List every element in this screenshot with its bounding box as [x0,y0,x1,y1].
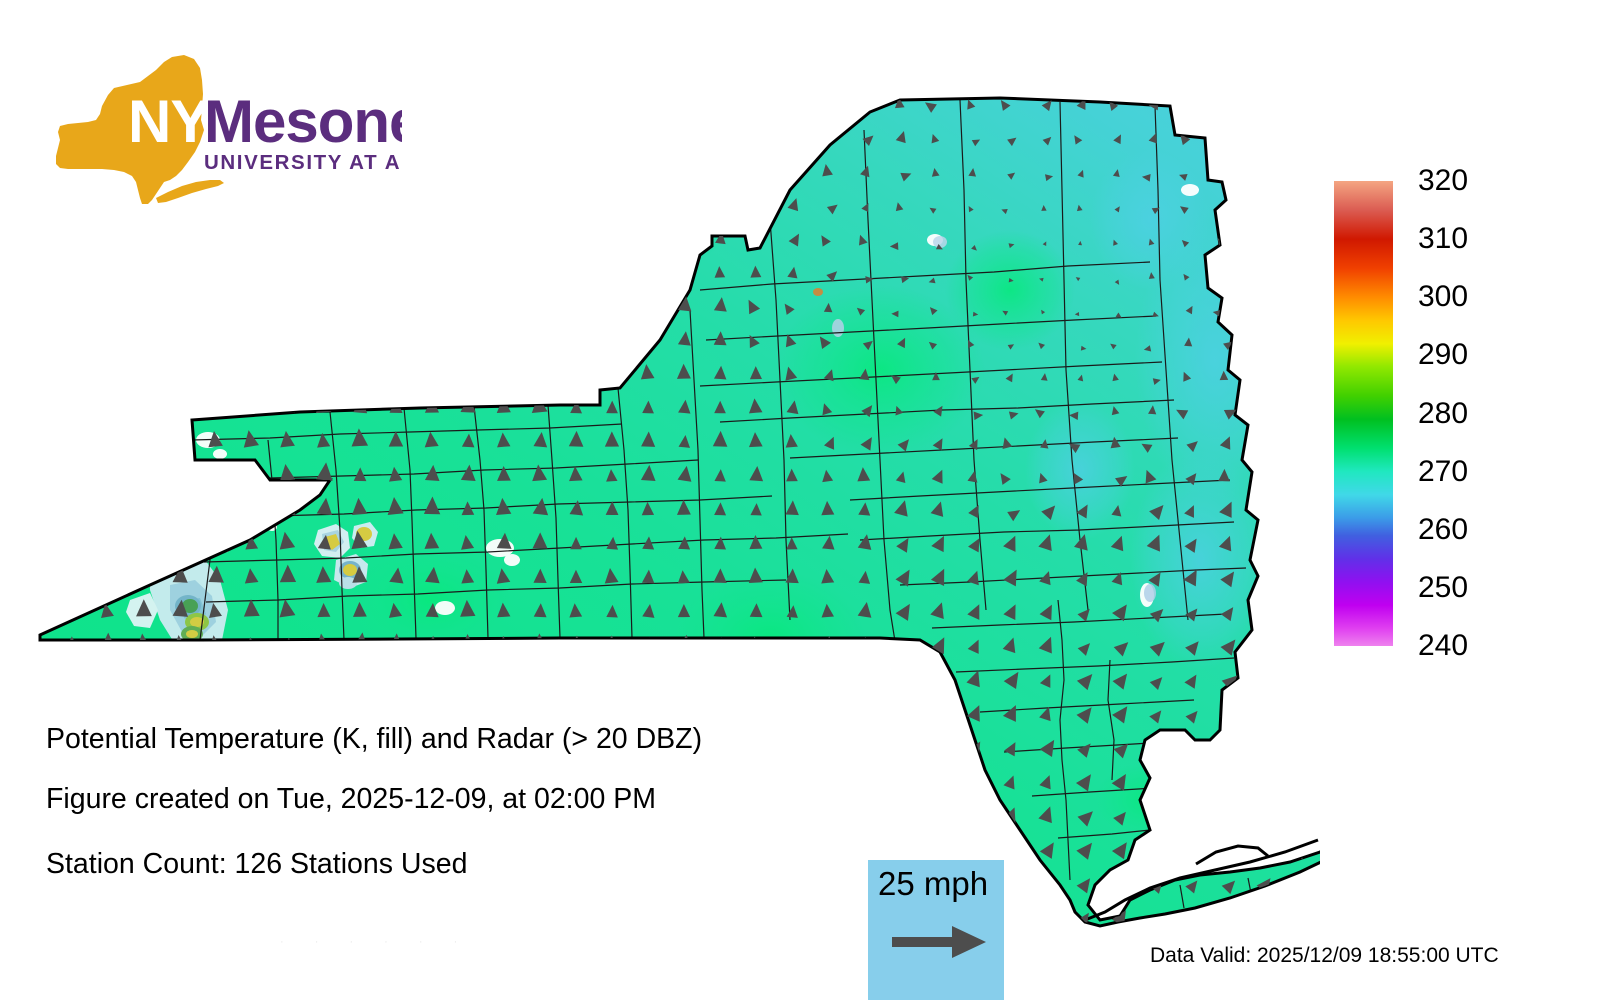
wind-arrow [387,260,405,297]
wind-arrow [1286,399,1306,430]
wind-arrow [1250,369,1268,393]
wind-arrow [280,228,295,261]
wind-arrow [135,330,153,363]
wind-arrow [280,363,296,398]
wind-arrow [496,667,512,706]
wind-arrow [748,738,765,771]
wind-arrow [209,908,223,940]
wind-arrow [169,224,190,264]
wind-arrow [1247,671,1274,702]
wind-arrow [568,635,584,669]
wind-arrow [208,670,224,702]
wind-arrow [495,159,513,195]
wind-arrow [531,670,548,702]
wind-arrow [1213,133,1233,153]
wind-arrow [496,636,511,669]
wind-arrow [281,637,295,668]
wind-arrow [1283,774,1311,804]
wind-arrow [242,362,261,398]
wind-arrow [568,128,583,157]
wind-arrow [64,328,80,364]
wind-arrow [171,428,189,467]
wind-arrow [857,705,870,736]
wind-arrow [568,907,584,940]
wind-arrow [168,87,191,129]
wind-arrow [569,297,583,329]
wind-arrow [27,293,44,331]
wind-arrow [64,160,80,192]
wind-arrow [531,159,548,193]
wind-arrow [819,703,836,738]
wind-arrow [137,501,151,533]
wind-arrow [243,327,260,365]
wind-arrow [171,360,189,399]
wind-arrow [1286,299,1305,327]
wind-arrow [28,599,44,637]
wind-arrow [389,669,404,703]
wind-arrow [569,839,584,874]
figure-created-text: Figure created on Tue, 2025-12-09, at 02… [46,784,656,814]
wind-arrow [280,91,297,125]
wind-arrow [1244,771,1278,807]
wind-arrow [856,636,871,668]
wind-arrow [748,91,764,126]
wind-arrow [209,364,224,396]
colorbar-tick-270: 270 [1418,457,1468,487]
wind-arrow [1247,809,1275,837]
wind-arrow [1249,301,1272,325]
wind-arrow [605,196,619,225]
wind-arrow [65,466,79,499]
wind-arrow [137,91,152,125]
wind-arrow [675,124,693,160]
wind-arrow [62,907,81,940]
wind-arrow [208,226,225,262]
wind-arrow [496,908,513,940]
wind-arrow [99,326,117,365]
wind-arrow [567,669,584,703]
wind-arrow [712,840,729,873]
wind-arrow [1209,906,1241,940]
wind-arrow [60,190,83,231]
wind-arrow [532,873,548,908]
wind-arrow [604,907,619,940]
wind-arrow [750,911,762,939]
wind-arrow [65,93,79,125]
wind-arrow [25,838,46,875]
wind-arrow [1289,467,1304,498]
figure-canvas: NYS Mesonet UNIVERSITY AT ALBANY [0,0,1600,1000]
wind-arrow [350,258,369,299]
wind-arrow [388,330,404,362]
wind-arrow [100,431,116,466]
wind-arrow [925,806,948,840]
wind-arrow [425,296,440,328]
wind-arrow [244,499,260,533]
wind-arrow [856,805,871,839]
wind-arrow [676,840,693,873]
wind-arrow [172,193,189,228]
wind-arrow [352,364,368,396]
wind-arrow [461,161,475,192]
wind-arrow [820,636,836,670]
wind-arrow [713,92,728,125]
wind-arrow [63,227,80,261]
wind-arrow [64,124,80,160]
wind-arrow [99,565,117,604]
wind-arrow [495,329,513,363]
wind-arrow [1137,838,1168,875]
wind-arrow [352,295,368,330]
wind-arrow [496,228,513,261]
wind-arrow [495,293,513,330]
wind-arrow [1290,163,1302,190]
wind-arrow [886,804,916,840]
wind-arrow [604,331,620,361]
wind-arrow [1212,97,1235,122]
wind-arrow [1288,367,1304,395]
wind-arrow [641,909,654,940]
wind-arrow [387,158,405,194]
wind-arrow [29,229,44,260]
wind-arrow [926,670,948,703]
wind-arrow [785,704,799,736]
wind-arrow [170,394,190,434]
wind-arrow [784,670,801,702]
wind-arrow [63,496,81,535]
wind-arrow [29,160,44,192]
wind-arrow [98,124,118,160]
wind-arrow [675,227,694,261]
wind-arrow [1246,637,1277,669]
wind-arrow [136,295,152,330]
colorbar-tick-320: 320 [1418,166,1468,196]
wind-arrow [1252,337,1267,358]
wind-arrow [604,635,619,669]
wind-arrow [713,740,727,769]
wind-arrow [100,464,117,501]
wind-arrow [569,195,583,226]
wind-arrow [1250,93,1272,124]
wind-arrow [748,160,764,192]
wind-arrow [605,128,620,158]
wind-arrow [1289,433,1303,463]
wind-arrow [856,668,873,704]
wind-arrow [530,837,549,875]
wind-arrow [711,906,729,940]
wind-arrow [137,228,151,261]
colorbar-tick-240: 240 [1418,631,1468,661]
wind-arrow [677,808,692,837]
wind-arrow [605,264,620,293]
wind-arrow [532,364,549,398]
wind-arrow [99,294,116,331]
wind-arrow [1250,237,1269,254]
wind-arrow [206,293,225,331]
wind-arrow [1291,234,1302,256]
wind-arrow [532,194,548,227]
wind-arrow [459,294,477,330]
wind-arrow [641,161,654,192]
wind-arrow [25,871,46,909]
wind-arrow [888,704,913,737]
wind-arrow [1211,773,1238,805]
wind-arrow [171,498,189,535]
wind-arrow [1246,907,1277,940]
wind-arrow [676,162,691,192]
wind-arrow [208,261,224,296]
wind-arrow [958,805,988,841]
wind-arrow [136,364,151,398]
wind-arrow [317,160,331,193]
wind-arrow [676,907,692,940]
wind-arrow [244,293,261,332]
wind-arrow [1181,95,1196,122]
wind-arrow [423,361,440,400]
wind-arrow [604,839,619,873]
wind-arrow [496,92,511,125]
wind-arrow [677,771,692,806]
wind-arrow [99,499,117,534]
wind-arrow [172,535,188,566]
wind-arrow [1031,908,1058,940]
wind-arrow [888,638,913,668]
wind-arrow [569,364,584,396]
wind-arrow [459,123,476,162]
wind-arrow [205,89,226,128]
wind-arrow [1284,638,1309,668]
wind-arrow [314,293,334,332]
wind-arrow [26,803,46,842]
wind-arrow [28,531,45,570]
wind-arrow [279,192,297,229]
wind-arrow [350,158,369,194]
wind-arrow [748,636,764,669]
wind-arrow [639,260,657,296]
wind-arrow [26,463,45,502]
wind-arrow [25,328,46,364]
wind-arrow [641,93,654,124]
wind-arrow [785,875,799,906]
wind-arrow [888,770,913,807]
wind-arrow [857,774,872,803]
colorbar-tick-290: 290 [1418,340,1468,370]
wind-arrow [532,295,549,329]
figure-title: Potential Temperature (K, fill) and Rada… [46,724,702,754]
cut-off-text: · · · · · · [280,927,471,957]
wind-arrow [1282,807,1312,839]
wind-arrow [101,227,115,261]
wind-arrow [747,873,765,908]
wind-arrow [245,261,260,296]
wind-arrow [642,127,655,158]
wind-arrow [279,667,298,706]
wind-arrow [101,194,115,226]
wind-arrow [820,841,837,873]
wind-arrow [747,703,765,737]
wind-arrow [569,263,583,295]
colorbar-tick-250: 250 [1418,573,1468,603]
wind-arrow [1247,707,1274,736]
wind-arrow [925,703,949,738]
wind-arrow [137,195,151,226]
wind-arrow [1175,910,1202,940]
wind-arrow [675,872,693,908]
wind-arrow [783,736,802,772]
wind-arrow [279,158,297,194]
wind-arrow [712,637,727,668]
wind-arrow [821,909,835,940]
colorbar-tick-280: 280 [1418,399,1468,429]
wind-arrow [605,92,620,124]
wind-arrow [242,123,261,162]
wind-arrow [350,191,370,230]
wind-arrow [208,194,223,228]
wind-arrow [1281,738,1313,771]
data-valid-timestamp: Data Valid: 2025/12/09 18:55:00 UTC [1150,944,1499,968]
wind-arrow [887,669,915,705]
wind-arrow [924,735,949,773]
wind-arrow [134,667,154,705]
wind-arrow [1250,165,1269,189]
wind-arrow [243,225,262,263]
wind-arrow [1250,434,1268,463]
wind-arrow [459,261,476,295]
wind-arrow [421,258,442,298]
wind-arrow [209,330,224,362]
wind-arrow [315,194,332,227]
colorbar-tick-260: 260 [1418,515,1468,545]
wind-arrow [1287,127,1304,157]
colorbar-tick-labels: 320310300290280270260250240 [1334,181,1584,646]
wind-arrow [351,669,369,703]
wind-arrow [713,875,728,906]
wind-arrow [1211,738,1238,771]
wind-arrow [605,875,620,906]
wind-arrow [134,904,153,940]
wind-arrow [459,226,477,262]
wind-arrow [714,197,727,224]
wind-arrow [1175,774,1202,805]
wind-arrow [641,669,656,704]
wind-arrow [388,361,405,400]
wind-arrow [640,637,655,668]
wind-arrow [530,225,549,263]
wind-arrow [423,667,440,704]
wind-arrow [28,124,44,161]
colorbar: 320310300290280270260250240 [1334,181,1584,651]
wind-arrow [1209,804,1240,842]
wind-arrow [135,126,152,159]
wind-arrow [714,163,726,190]
wind-arrow [1283,569,1311,601]
wind-scale-legend: 25 mph [868,860,1004,1000]
wind-arrow [135,430,152,466]
wind-arrow [388,191,404,229]
wind-arrow [1175,808,1202,838]
wind-arrow [315,365,332,397]
wind-arrow [820,671,837,702]
wind-arrow [459,668,478,705]
wind-arrow [640,874,656,907]
wind-arrow [712,706,727,735]
wind-arrow [169,156,190,196]
wind-arrow [101,161,115,192]
wind-arrow [424,89,440,126]
wind-arrow [1283,911,1312,940]
wind-arrow [281,329,296,363]
wind-arrow [208,466,223,499]
wind-arrow [136,464,153,500]
wind-arrow [207,498,225,535]
wind-arrow [1246,737,1276,773]
wind-arrow [243,465,261,500]
wind-arrow [1173,738,1205,771]
wind-arrow [569,230,584,260]
wind-arrow [243,909,260,940]
wind-arrow [749,127,762,157]
wind-arrow [924,770,950,806]
wind-arrow [606,163,618,191]
wind-arrow [137,262,152,294]
wind-arrow [821,807,835,839]
wind-arrow [494,870,513,910]
wind-arrow [61,360,82,400]
wind-arrow [1217,269,1230,289]
wind-arrow [63,297,81,329]
wind-arrow [136,398,151,432]
wind-arrow [172,668,189,704]
wind-arrow [1287,333,1304,360]
wind-arrow [100,396,116,433]
wind-arrow [207,125,224,160]
wind-arrow [496,362,512,399]
wind-arrow [783,909,801,940]
wind-arrow [351,328,369,364]
wind-arrow [28,566,45,602]
wind-arrow [1284,198,1306,224]
wind-arrow [532,260,548,297]
wind-arrow [785,774,799,804]
wind-arrow [531,905,549,940]
wind-arrow [821,876,834,906]
wind-arrow [172,466,187,499]
wind-arrow [677,93,691,125]
wind-arrow [351,124,369,161]
wind-arrow [172,906,188,940]
wind-arrow [26,905,45,940]
wind-arrow [1284,876,1310,905]
wind-arrow [639,840,656,873]
wind-arrow [712,806,729,840]
wind-arrow [1173,840,1205,874]
wind-arrow [858,741,870,769]
wind-arrow [136,158,153,194]
wind-arrow [494,837,513,876]
wind-arrow [750,807,763,838]
wind-arrow [784,94,800,123]
wind-arrow [245,194,259,227]
wind-arrow [640,192,656,228]
wind-arrow [568,162,584,192]
wind-arrow [424,228,439,261]
wind-arrow [244,90,261,127]
wind-arrow [423,326,441,366]
wind-arrow [712,669,727,704]
wind-arrow [26,429,46,467]
wind-arrow [171,295,189,330]
wind-arrow [244,636,260,668]
